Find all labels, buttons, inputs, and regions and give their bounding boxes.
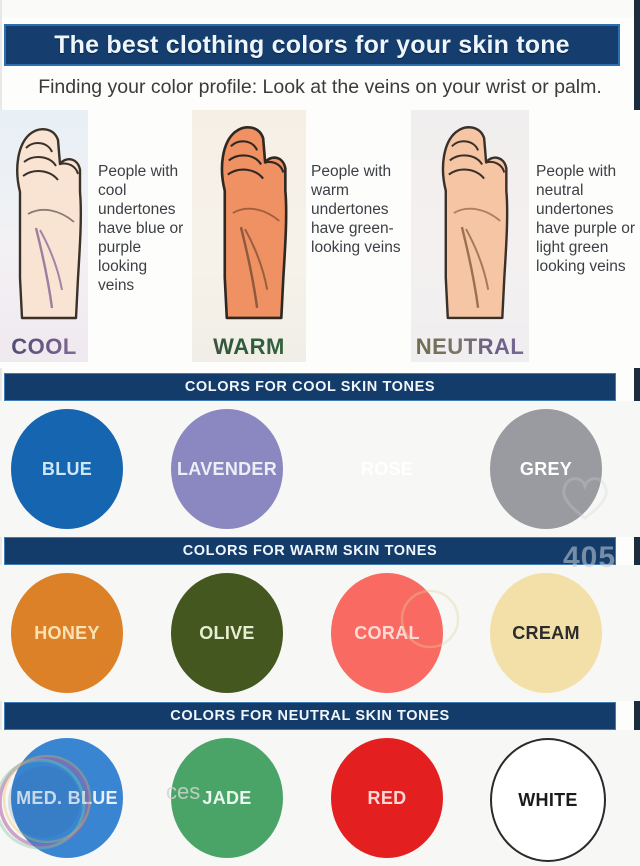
cool-hand-illustration <box>0 118 92 328</box>
tone-blurb-cool: People with cool undertones have blue or… <box>98 162 184 295</box>
swatch-olive[interactable]: OLIVE <box>171 573 283 693</box>
tone-label-neutral: NEUTRAL <box>411 334 529 360</box>
swatch-white[interactable]: WHITE <box>490 738 606 862</box>
swatch-grey[interactable]: GREY <box>490 409 602 529</box>
tone-panel-cool: COOL <box>0 110 88 362</box>
page-title: The best clothing colors for your skin t… <box>54 31 570 60</box>
tone-panel-warm: WARM <box>192 110 306 362</box>
undertone-section: COOL People with cool undertones have bl… <box>0 110 640 368</box>
swatch-row-neutral: MED. BLUE JADE RED WHITE <box>0 730 640 866</box>
neutral-hand-illustration <box>421 116 519 328</box>
swatch-honey[interactable]: HONEY <box>11 573 123 693</box>
swatch-row-warm: HONEY OLIVE CORAL CREAM <box>0 565 640 701</box>
tone-label-warm: WARM <box>192 334 306 360</box>
tone-label-cool: COOL <box>0 334 88 360</box>
section-banner-neutral-label: COLORS FOR NEUTRAL SKIN TONES <box>170 708 450 724</box>
swatch-jade[interactable]: JADE <box>171 738 283 858</box>
swatch-row-cool: BLUE LAVENDER ROSE GREY <box>0 401 640 537</box>
section-banner-cool-label: COLORS FOR COOL SKIN TONES <box>185 379 435 395</box>
tone-blurb-neutral: People with neutral undertones have purp… <box>536 162 640 276</box>
swatch-red[interactable]: RED <box>331 738 443 858</box>
swatch-blue[interactable]: BLUE <box>11 409 123 529</box>
warm-hand-illustration <box>199 116 299 328</box>
top-margin <box>0 0 640 17</box>
tone-blurb-warm: People with warm undertones have green-l… <box>311 162 407 257</box>
section-banner-warm: COLORS FOR WARM SKIN TONES <box>4 537 616 565</box>
section-banner-neutral: COLORS FOR NEUTRAL SKIN TONES <box>4 702 616 730</box>
title-banner: The best clothing colors for your skin t… <box>4 24 620 66</box>
swatch-lavender[interactable]: LAVENDER <box>171 409 283 529</box>
swatch-cream[interactable]: CREAM <box>490 573 602 693</box>
section-banner-warm-label: COLORS FOR WARM SKIN TONES <box>183 543 438 559</box>
tone-panel-neutral: NEUTRAL <box>411 110 529 362</box>
section-banner-cool: COLORS FOR COOL SKIN TONES <box>4 373 616 401</box>
swatch-med-blue[interactable]: MED. BLUE <box>11 738 123 858</box>
swatch-coral[interactable]: CORAL <box>331 573 443 693</box>
swatch-rose[interactable]: ROSE <box>331 409 443 529</box>
subtitle: Finding your color profile: Look at the … <box>0 72 640 102</box>
infographic-page: The best clothing colors for your skin t… <box>0 0 640 854</box>
